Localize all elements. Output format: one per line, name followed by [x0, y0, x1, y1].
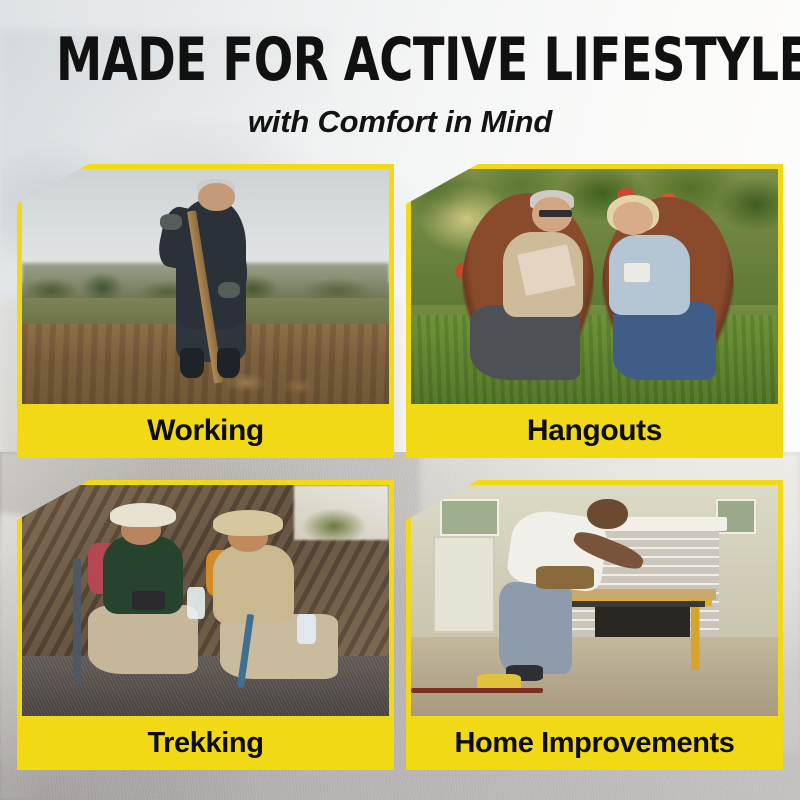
scene-trekking: [22, 485, 389, 716]
card-label-trekking: Trekking: [22, 716, 389, 770]
card-photo-hangouts: [411, 169, 778, 404]
scene-working: [22, 169, 389, 404]
feature-card-hangouts[interactable]: Hangouts: [406, 164, 783, 458]
page-subtitle: with Comfort in Mind: [0, 104, 800, 140]
card-label-home-improvements: Home Improvements: [411, 716, 778, 770]
card-photo-working: [22, 169, 389, 404]
feature-card-grid: Working: [17, 164, 783, 770]
feature-card-working[interactable]: Working: [17, 164, 394, 458]
poster-root: MADE FOR ACTIVE LIFESTYLE with Comfort i…: [0, 0, 800, 800]
card-label-working: Working: [22, 404, 389, 458]
page-title: MADE FOR ACTIVE LIFESTYLE: [56, 30, 744, 90]
scene-home-improvements: [411, 485, 778, 716]
poster-header: MADE FOR ACTIVE LIFESTYLE with Comfort i…: [0, 0, 800, 140]
feature-card-home-improvements[interactable]: Home Improvements: [406, 480, 783, 770]
card-label-hangouts: Hangouts: [411, 404, 778, 458]
card-photo-home-improvements: [411, 485, 778, 716]
feature-card-trekking[interactable]: Trekking: [17, 480, 394, 770]
card-photo-trekking: [22, 485, 389, 716]
scene-hangouts: [411, 169, 778, 404]
